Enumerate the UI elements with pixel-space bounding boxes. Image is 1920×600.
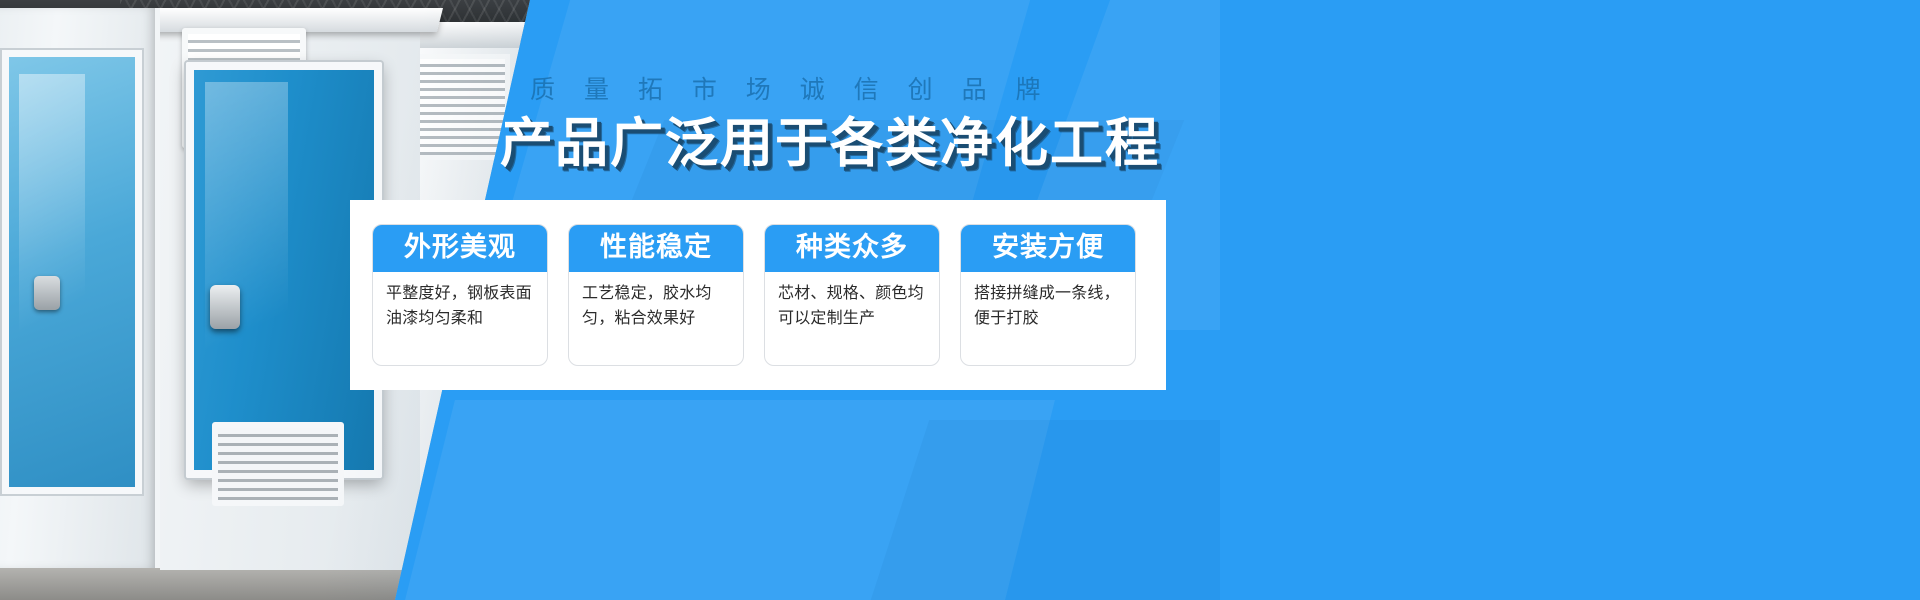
feature-card[interactable]: 外形美观 平整度好，钢板表面油漆均匀柔和 (372, 224, 548, 366)
feature-card-title: 性能稳定 (569, 225, 743, 272)
feature-card[interactable]: 种类众多 芯材、规格、颜色均可以定制生产 (764, 224, 940, 366)
feature-card[interactable]: 性能稳定 工艺稳定，胶水均匀，粘合效果好 (568, 224, 744, 366)
feature-card-panel: 外形美观 平整度好，钢板表面油漆均匀柔和 性能稳定 工艺稳定，胶水均匀，粘合效果… (350, 200, 1166, 390)
feature-card[interactable]: 安装方便 搭接拼缝成一条线，便于打胶 (960, 224, 1136, 366)
feature-card-body: 芯材、规格、颜色均可以定制生产 (765, 272, 939, 365)
feature-card-body: 平整度好，钢板表面油漆均匀柔和 (373, 272, 547, 365)
banner-subtitle: 质 量 拓 市 场 诚 信 创 品 牌 (530, 74, 1050, 106)
feature-card-title: 安装方便 (961, 225, 1135, 272)
feature-card-body: 搭接拼缝成一条线，便于打胶 (961, 272, 1135, 365)
feature-card-body: 工艺稳定，胶水均匀，粘合效果好 (569, 272, 743, 365)
promo-banner: 质 量 拓 市 场 诚 信 创 品 牌 产品广泛用于各类净化工程 外形美观 平整… (0, 0, 1920, 600)
blue-overlay-right-fade (1220, 0, 1920, 600)
feature-card-title: 外形美观 (373, 225, 547, 272)
feature-card-title: 种类众多 (765, 225, 939, 272)
banner-headline: 产品广泛用于各类净化工程 (500, 114, 1160, 174)
